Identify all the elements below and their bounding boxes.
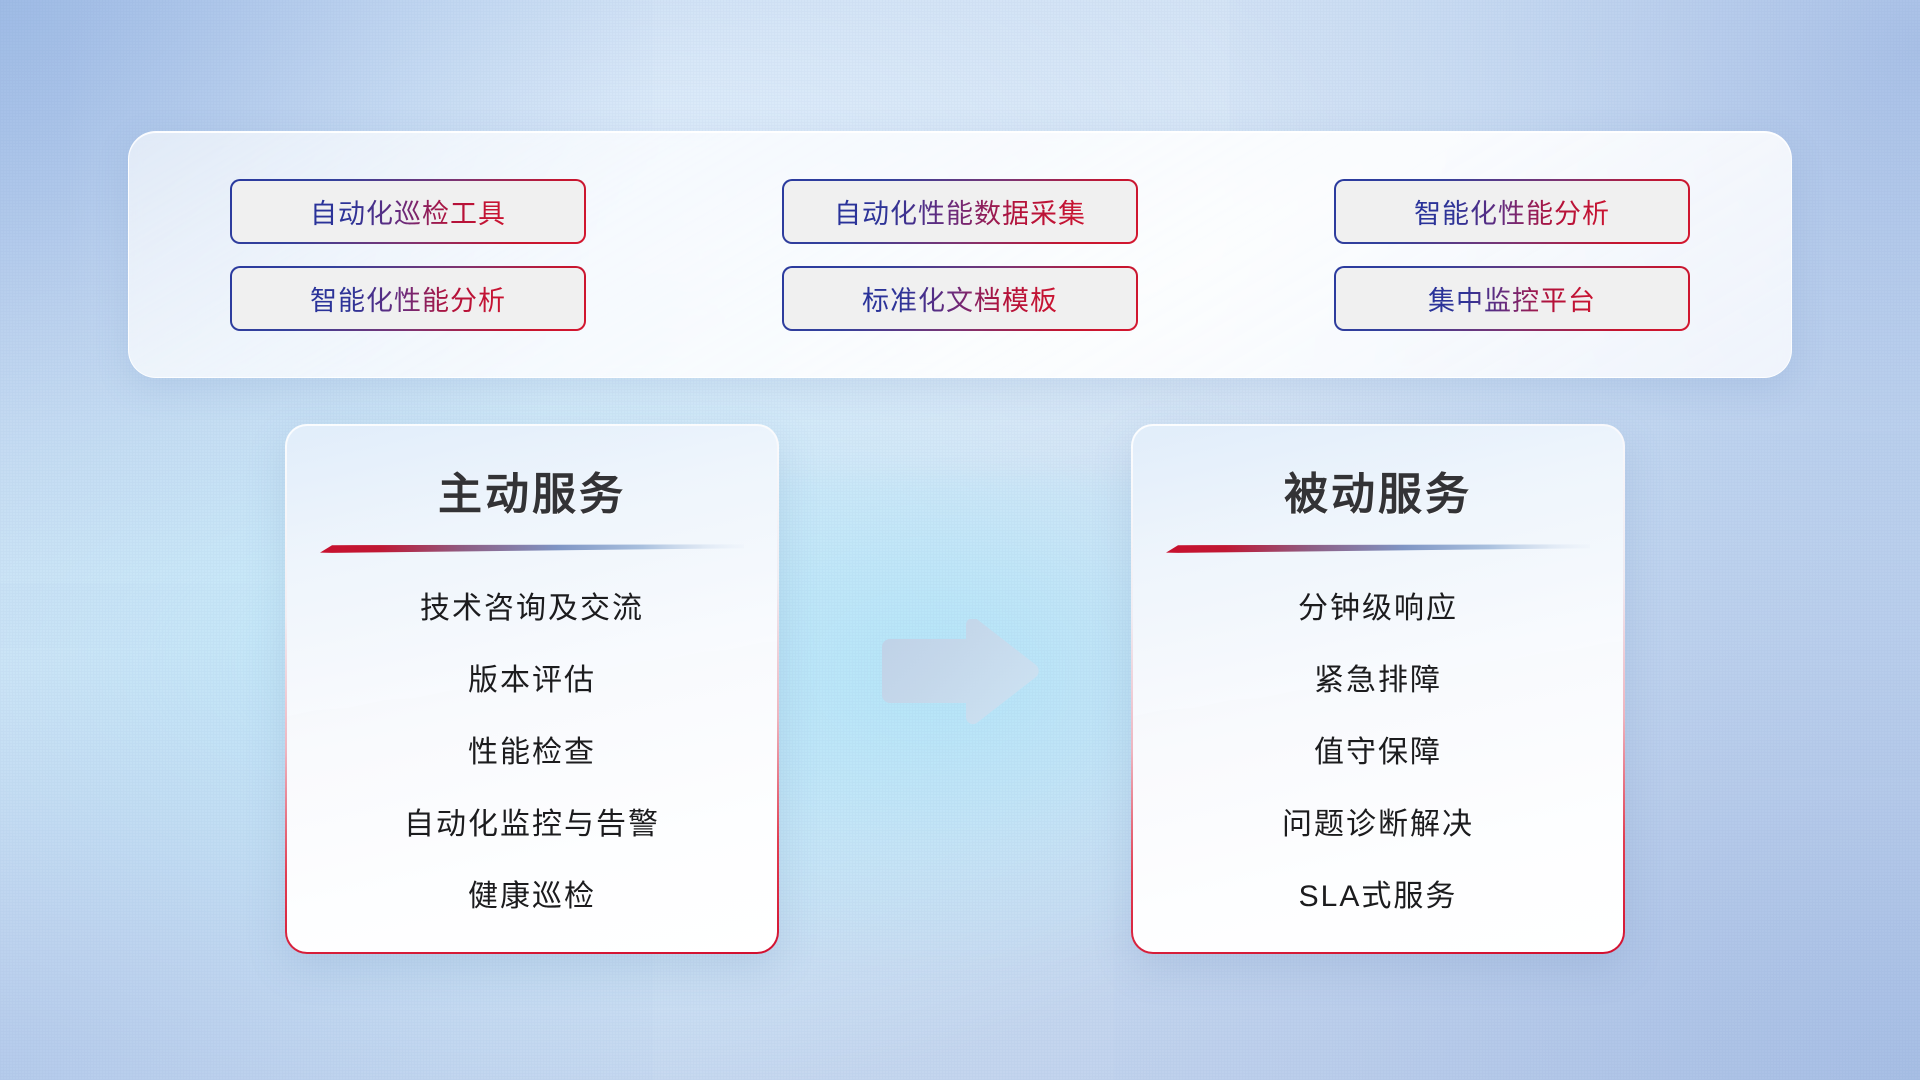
capability-pill-automation-performance-data-collection[interactable]: 自动化性能数据采集 [782,179,1138,244]
capability-pill-intelligent-performance-analysis-2[interactable]: 智能化性能分析 [230,266,586,331]
capability-pill-label: 标准化文档模板 [862,279,1058,318]
list-item: 紧急排障 [1314,645,1442,717]
card-title-underline [1166,544,1590,553]
capability-pill-automation-inspection-tool[interactable]: 自动化巡检工具 [230,179,586,244]
capability-pill-label: 智能化性能分析 [310,279,506,318]
card-item-list: 分钟级响应 紧急排障 值守保障 问题诊断解决 SLA式服务 [1133,573,1623,933]
list-item: SLA式服务 [1299,861,1458,933]
service-card-reactive: 被动服务 分钟级响应 紧急排障 值守保障 问题诊断解决 SLA式服务 [1131,424,1625,954]
list-item: 问题诊断解决 [1282,789,1474,861]
list-item: 版本评估 [468,645,596,717]
capability-pill-intelligent-performance-analysis[interactable]: 智能化性能分析 [1334,179,1690,244]
capability-pill-label: 自动化性能数据采集 [834,192,1086,231]
card-title: 被动服务 [1284,458,1472,522]
capability-pill-label: 集中监控平台 [1428,279,1596,318]
service-card-proactive: 主动服务 技术咨询及交流 版本评估 性能检查 自动化监控与告警 健康巡检 [285,424,779,954]
card-title-underline [320,544,744,553]
capability-row-2: 智能化性能分析 标准化文档模板 集中监控平台 [129,266,1791,331]
list-item: 技术咨询及交流 [420,573,644,645]
list-item: 值守保障 [1314,717,1442,789]
card-title: 主动服务 [438,458,626,522]
capability-row-1: 自动化巡检工具 自动化性能数据采集 智能化性能分析 [129,179,1791,244]
capability-panel: 自动化巡检工具 自动化性能数据采集 智能化性能分析 智能化性能分析 标准化文档模… [128,131,1792,378]
arrow-right-icon [874,619,1042,725]
list-item: 自动化监控与告警 [404,789,660,861]
capability-pill-standardized-document-template[interactable]: 标准化文档模板 [782,266,1138,331]
capability-pill-label: 智能化性能分析 [1414,192,1610,231]
capability-pill-label: 自动化巡检工具 [310,192,506,231]
list-item: 性能检查 [468,717,596,789]
list-item: 健康巡检 [468,861,596,933]
list-item: 分钟级响应 [1298,573,1458,645]
capability-pill-centralized-monitoring-platform[interactable]: 集中监控平台 [1334,266,1690,331]
card-item-list: 技术咨询及交流 版本评估 性能检查 自动化监控与告警 健康巡检 [287,573,777,933]
